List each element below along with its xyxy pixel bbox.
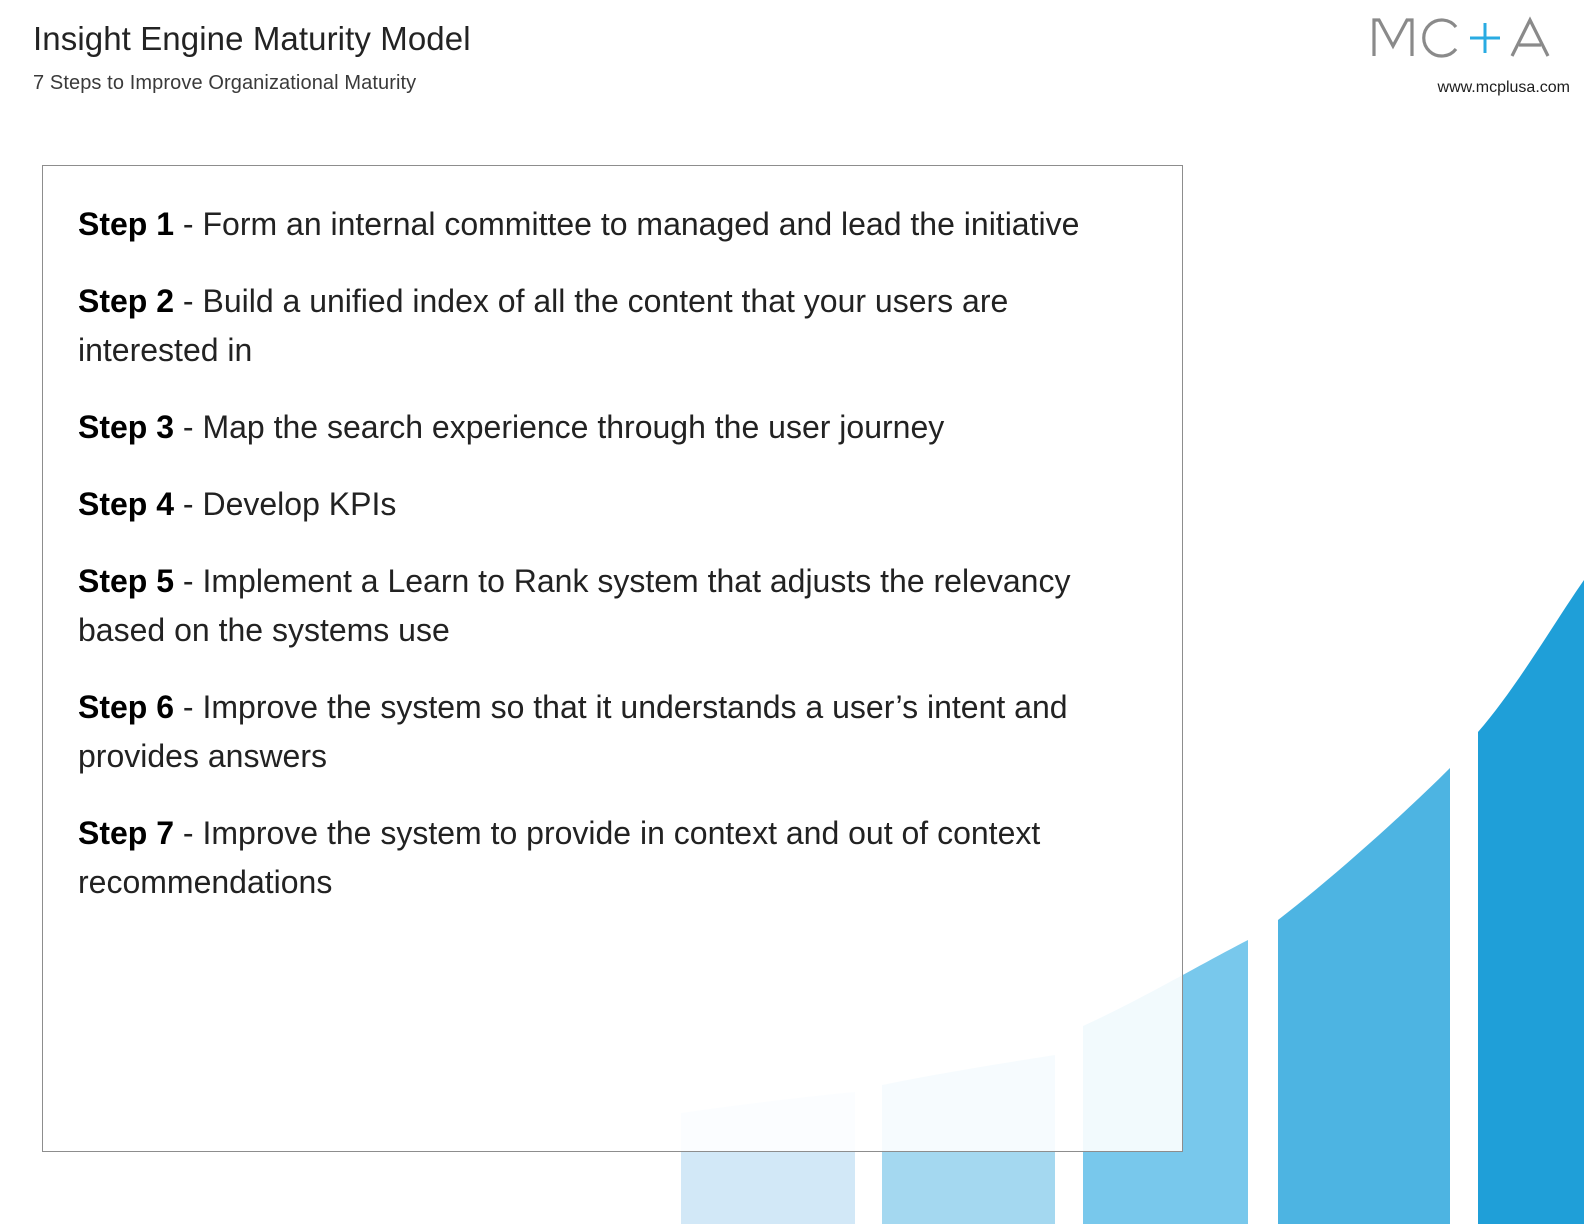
- step-text: - Build a unified index of all the conte…: [78, 283, 1008, 368]
- step-label: Step 3: [78, 409, 174, 445]
- list-item: Step 3 - Map the search experience throu…: [78, 403, 1156, 452]
- company-website-link[interactable]: www.mcplusa.com: [1438, 78, 1570, 98]
- mc-plus-a-logo-icon: [1370, 14, 1570, 60]
- list-item: Step 6 - Improve the system so that it u…: [78, 683, 1156, 781]
- step-label: Step 5: [78, 563, 174, 599]
- step-label: Step 1: [78, 206, 174, 242]
- step-label: Step 4: [78, 486, 174, 522]
- steps-list: Step 1 - Form an internal committee to m…: [78, 200, 1156, 907]
- list-item: Step 5 - Implement a Learn to Rank syste…: [78, 557, 1156, 655]
- page-subtitle: 7 Steps to Improve Organizational Maturi…: [33, 70, 416, 96]
- list-item: Step 2 - Build a unified index of all th…: [78, 277, 1156, 375]
- step-text: - Improve the system to provide in conte…: [78, 815, 1040, 900]
- step-label: Step 7: [78, 815, 174, 851]
- brand-logo[interactable]: www.mcplusa.com: [1324, 14, 1584, 100]
- step-text: - Develop KPIs: [174, 486, 396, 522]
- list-item: Step 4 - Develop KPIs: [78, 480, 1156, 529]
- growth-bar-5: [1478, 580, 1584, 1224]
- step-text: - Map the search experience through the …: [174, 409, 944, 445]
- list-item: Step 1 - Form an internal committee to m…: [78, 200, 1156, 249]
- step-text: - Implement a Learn to Rank system that …: [78, 563, 1070, 648]
- page-title: Insight Engine Maturity Model: [33, 19, 471, 59]
- step-text: - Form an internal committee to managed …: [174, 206, 1079, 242]
- step-label: Step 2: [78, 283, 174, 319]
- list-item: Step 7 - Improve the system to provide i…: [78, 809, 1156, 907]
- growth-bar-4: [1278, 768, 1450, 1224]
- step-text: - Improve the system so that it understa…: [78, 689, 1068, 774]
- step-label: Step 6: [78, 689, 174, 725]
- steps-panel: Step 1 - Form an internal committee to m…: [42, 165, 1183, 1152]
- slide-canvas: Insight Engine Maturity Model 7 Steps to…: [0, 0, 1584, 1224]
